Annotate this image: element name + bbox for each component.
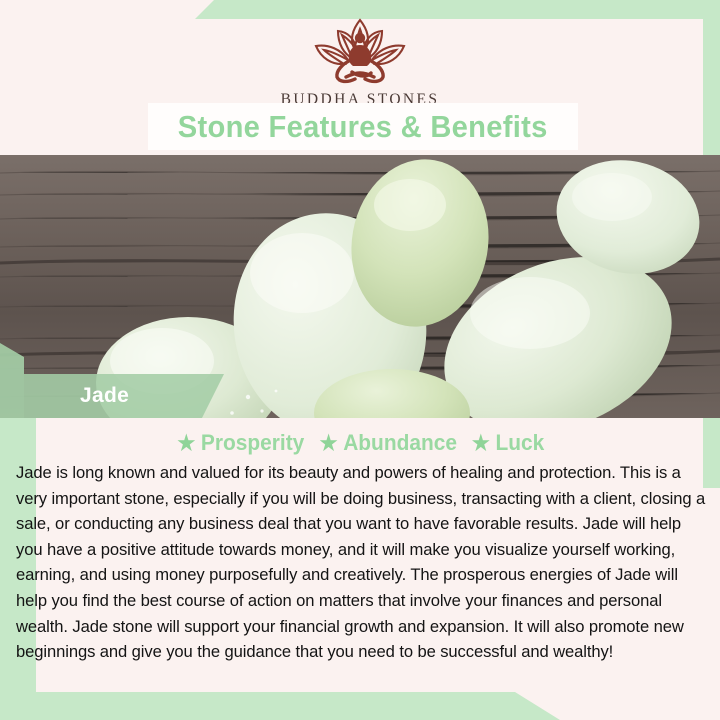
stone-description: Jade is long known and valued for its be…: [16, 460, 708, 665]
star-icon: ★: [177, 433, 195, 454]
page-title-panel: Stone Features & Benefits: [148, 103, 578, 150]
benefit-label: Luck: [496, 430, 545, 456]
benefit-item-prosperity: ★ Prosperity: [177, 430, 304, 456]
lotus-meditation-icon: [294, 14, 426, 86]
stone-name-band: Jade: [24, 374, 224, 418]
benefit-item-abundance: ★ Abundance: [320, 430, 457, 456]
benefits-row: ★ Prosperity ★ Abundance ★ Luck: [0, 430, 720, 456]
benefit-item-luck: ★ Luck: [472, 430, 544, 456]
page-title: Stone Features & Benefits: [178, 109, 548, 145]
benefit-label: Abundance: [344, 430, 458, 456]
brand-header: BUDDHA STONES: [0, 14, 720, 109]
benefit-label: Prosperity: [201, 430, 304, 456]
bottom-accent-bar: [0, 692, 560, 720]
stone-name: Jade: [80, 384, 129, 408]
star-icon: ★: [472, 433, 490, 454]
stone-info-card: BUDDHA STONES Stone Features & Benefits: [0, 0, 720, 720]
star-icon: ★: [320, 433, 338, 454]
